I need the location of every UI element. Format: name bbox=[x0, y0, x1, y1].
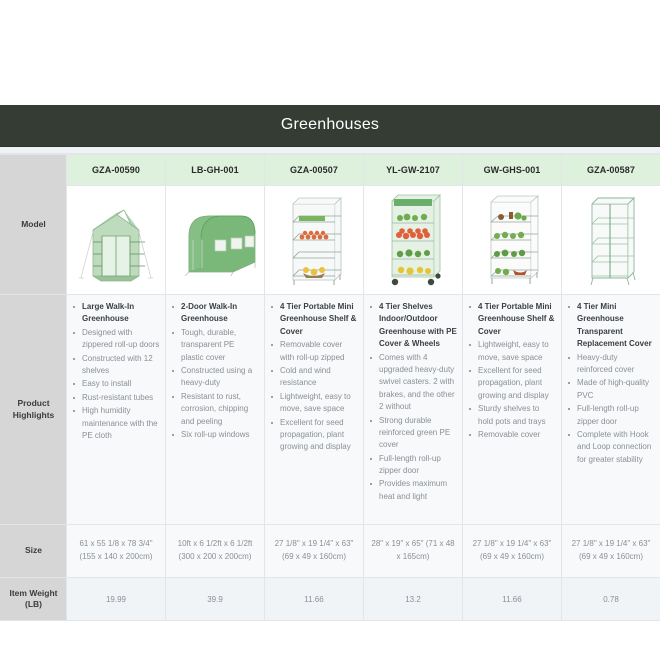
weight-cell-1: 39.9 bbox=[166, 578, 265, 621]
row-label-model: Model bbox=[1, 155, 67, 295]
size-line-2: (300 x 200 x 200cm) bbox=[170, 551, 260, 564]
highlight-list: Large Walk-In Greenhouse Designed with z… bbox=[72, 301, 160, 442]
list-item: Easy to install bbox=[72, 378, 160, 390]
2-door-walk-in-greenhouse-image[interactable] bbox=[166, 186, 265, 295]
row-label-item-weight: Item Weight (LB) bbox=[1, 578, 67, 621]
size-line-1: 10ft x 6 1/2ft x 6 1/2ft bbox=[170, 538, 260, 551]
row-label-product-highlights: Product Highlights bbox=[1, 295, 67, 525]
weight-cell-5: 0.78 bbox=[562, 578, 660, 621]
list-item: Lightweight, easy to move, save space bbox=[270, 391, 358, 416]
weight-cell-4: 11.66 bbox=[463, 578, 562, 621]
highlight-list: 2-Door Walk-In Greenhouse Tough, durable… bbox=[171, 301, 259, 441]
list-item: Six roll-up windows bbox=[171, 429, 259, 441]
list-item: Made of high-quality PVC bbox=[567, 377, 655, 402]
highlight-list: 4 Tier Mini Greenhouse Transparent Repla… bbox=[567, 301, 655, 466]
row-label-line-2: (LB) bbox=[4, 599, 63, 610]
size-line-1: 27 1/8" x 19 1/4" x 63" bbox=[566, 538, 656, 551]
size-cell-3: 28" x 19" x 65" (71 x 48 x 165cm) bbox=[364, 525, 463, 578]
list-item: 4 Tier Portable Mini Greenhouse Shelf & … bbox=[468, 301, 556, 338]
size-line-1: 28" x 19" x 65" (71 x 48 bbox=[368, 538, 458, 551]
product-comparison-page: Greenhouses Model GZA-00590 LB-GH-001 GZ… bbox=[0, 0, 660, 660]
highlights-cell-4: 4 Tier Portable Mini Greenhouse Shelf & … bbox=[463, 295, 562, 525]
list-item: Cold and wind resistance bbox=[270, 365, 358, 390]
size-line-2: x 165cm) bbox=[368, 551, 458, 564]
list-item: 4 Tier Portable Mini Greenhouse Shelf & … bbox=[270, 301, 358, 338]
list-item: Full-length roll-up zipper door bbox=[369, 453, 457, 478]
highlight-list: 4 Tier Portable Mini Greenhouse Shelf & … bbox=[468, 301, 556, 441]
size-line-2: (155 x 140 x 200cm) bbox=[71, 551, 161, 564]
page-title: Greenhouses bbox=[0, 105, 660, 147]
size-cell-4: 27 1/8" x 19 1/4" x 63" (69 x 49 x 160cm… bbox=[463, 525, 562, 578]
4-tier-mini-greenhouse-replacement-cover-image[interactable] bbox=[562, 186, 660, 295]
list-item: Lightweight, easy to move, save space bbox=[468, 339, 556, 364]
list-item: Comes with 4 upgraded heavy-duty swivel … bbox=[369, 352, 457, 414]
4-tier-shelves-greenhouse-wheels-image[interactable] bbox=[364, 186, 463, 295]
size-line-2: (69 x 49 x 160cm) bbox=[269, 551, 359, 564]
highlights-cell-2: 4 Tier Portable Mini Greenhouse Shelf & … bbox=[265, 295, 364, 525]
list-item: Complete with Hook and Loop connection f… bbox=[567, 429, 655, 466]
highlights-cell-5: 4 Tier Mini Greenhouse Transparent Repla… bbox=[562, 295, 660, 525]
4-tier-portable-mini-greenhouse-shelf-image[interactable] bbox=[463, 186, 562, 295]
list-item: Constructed with 12 shelves bbox=[72, 353, 160, 378]
list-item: Designed with zippered roll-up doors bbox=[72, 327, 160, 352]
row-label-line-1: Item Weight bbox=[4, 588, 63, 599]
list-item: 2-Door Walk-In Greenhouse bbox=[171, 301, 259, 326]
list-item: Excellent for seed propagation, plant gr… bbox=[468, 365, 556, 402]
large-walk-in-greenhouse-image[interactable] bbox=[67, 186, 166, 295]
list-item: Strong durable reinforced green PE cover bbox=[369, 415, 457, 452]
list-item: Large Walk-In Greenhouse bbox=[72, 301, 160, 326]
model-header-4: GW-GHS-001 bbox=[463, 155, 562, 186]
comparison-table-container: Greenhouses Model GZA-00590 LB-GH-001 GZ… bbox=[0, 105, 660, 621]
list-item: Constructed using a heavy-duty bbox=[171, 365, 259, 390]
list-item: Full-length roll-up zipper door bbox=[567, 403, 655, 428]
highlight-list: 4 Tier Portable Mini Greenhouse Shelf & … bbox=[270, 301, 358, 454]
list-item: Heavy-duty reinforced cover bbox=[567, 352, 655, 377]
comparison-table: Model GZA-00590 LB-GH-001 GZA-00507 YL-G… bbox=[0, 154, 660, 621]
list-item: High humidity maintenance with the PE cl… bbox=[72, 405, 160, 442]
highlights-cell-3: 4 Tier Shelves Indoor/Outdoor Greenhouse… bbox=[364, 295, 463, 525]
size-line-2: (69 x 49 x 160cm) bbox=[467, 551, 557, 564]
highlights-cell-1: 2-Door Walk-In Greenhouse Tough, durable… bbox=[166, 295, 265, 525]
model-header-5: GZA-00587 bbox=[562, 155, 660, 186]
weight-cell-2: 11.66 bbox=[265, 578, 364, 621]
row-label-line-2: Highlights bbox=[4, 410, 63, 421]
weight-cell-3: 13.2 bbox=[364, 578, 463, 621]
list-item: 4 Tier Mini Greenhouse Transparent Repla… bbox=[567, 301, 655, 351]
size-line-2: (69 x 49 x 160cm) bbox=[566, 551, 656, 564]
list-item: Resistant to rust, corrosion, chipping a… bbox=[171, 391, 259, 428]
list-item: Excellent for seed propagation, plant gr… bbox=[270, 417, 358, 454]
model-header-3: YL-GW-2107 bbox=[364, 155, 463, 186]
model-header-0: GZA-00590 bbox=[67, 155, 166, 186]
list-item: Sturdy shelves to hold pots and trays bbox=[468, 403, 556, 428]
model-header-row: Model GZA-00590 LB-GH-001 GZA-00507 YL-G… bbox=[1, 155, 660, 186]
size-line-1: 61 x 55 1/8 x 78 3/4" bbox=[71, 538, 161, 551]
highlights-cell-0: Large Walk-In Greenhouse Designed with z… bbox=[67, 295, 166, 525]
title-underline-strip bbox=[0, 147, 660, 154]
model-header-2: GZA-00507 bbox=[265, 155, 364, 186]
product-image-row bbox=[1, 186, 660, 295]
list-item: Removable cover bbox=[468, 429, 556, 441]
row-label-size: Size bbox=[1, 525, 67, 578]
item-weight-row: Item Weight (LB) 19.99 39.9 11.66 13.2 1… bbox=[1, 578, 660, 621]
size-line-1: 27 1/8" x 19 1/4" x 63" bbox=[467, 538, 557, 551]
list-item: Rust-resistant tubes bbox=[72, 392, 160, 404]
list-item: Tough, durable, transparent PE plastic c… bbox=[171, 327, 259, 364]
size-row: Size 61 x 55 1/8 x 78 3/4" (155 x 140 x … bbox=[1, 525, 660, 578]
4-tier-portable-mini-greenhouse-image[interactable] bbox=[265, 186, 364, 295]
product-highlights-row: Product Highlights Large Walk-In Greenho… bbox=[1, 295, 660, 525]
weight-cell-0: 19.99 bbox=[67, 578, 166, 621]
model-header-1: LB-GH-001 bbox=[166, 155, 265, 186]
size-line-1: 27 1/8" x 19 1/4" x 63" bbox=[269, 538, 359, 551]
list-item: 4 Tier Shelves Indoor/Outdoor Greenhouse… bbox=[369, 301, 457, 351]
highlight-list: 4 Tier Shelves Indoor/Outdoor Greenhouse… bbox=[369, 301, 457, 503]
size-cell-1: 10ft x 6 1/2ft x 6 1/2ft (300 x 200 x 20… bbox=[166, 525, 265, 578]
list-item: Removable cover with roll-up zipped bbox=[270, 339, 358, 364]
size-cell-0: 61 x 55 1/8 x 78 3/4" (155 x 140 x 200cm… bbox=[67, 525, 166, 578]
size-cell-5: 27 1/8" x 19 1/4" x 63" (69 x 49 x 160cm… bbox=[562, 525, 660, 578]
size-cell-2: 27 1/8" x 19 1/4" x 63" (69 x 49 x 160cm… bbox=[265, 525, 364, 578]
list-item: Provides maximum heat and light bbox=[369, 478, 457, 503]
row-label-line-1: Product bbox=[4, 398, 63, 409]
